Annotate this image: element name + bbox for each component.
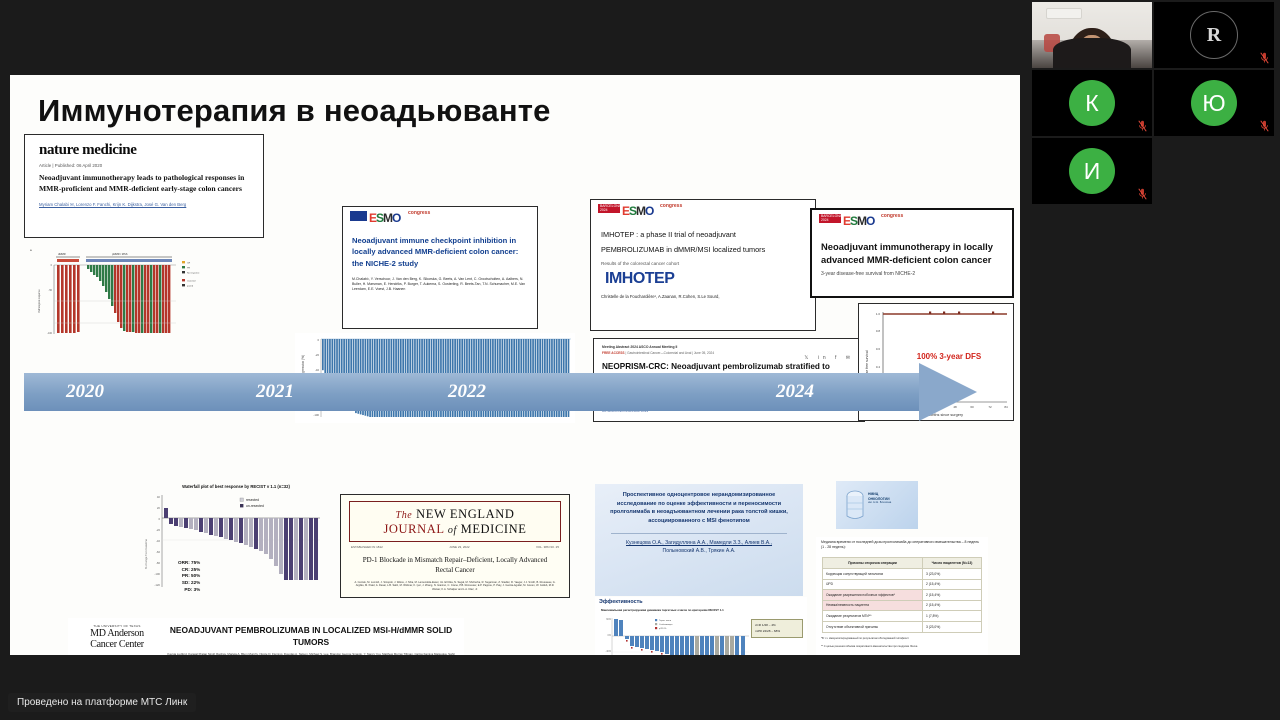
mdacc-waterfall-svg: % change from baseline 40200 -20-40-60 -… bbox=[140, 491, 332, 603]
svg-text:dMMR: dMMR bbox=[58, 252, 66, 256]
count-cell: 2 (15,4%) bbox=[923, 590, 982, 601]
presentation-slide[interactable]: Иммунотерапия в неоадьюванте nature medi… bbox=[10, 75, 1020, 655]
participant-yu-tile[interactable]: Ю bbox=[1154, 70, 1274, 136]
imhotep-card: BARCELONA 2024ESMO congress IMHOTEP : a … bbox=[590, 199, 816, 331]
niche2-3year-title: Neoadjuvant immunotherapy in locally adv… bbox=[821, 241, 1003, 266]
svg-text:0: 0 bbox=[51, 264, 53, 267]
count-cell: 2 (15,4%) bbox=[923, 600, 982, 611]
svg-text:-100: -100 bbox=[47, 332, 52, 335]
mdacc-logo: THE UNIVERSITY OF TEXAS MD Anderson Canc… bbox=[72, 624, 162, 655]
svg-text:-60: -60 bbox=[156, 550, 160, 554]
reason-cell: Ожидание разрешения побочных эффектов* bbox=[823, 590, 923, 601]
page-title: Иммунотерапия в неоадьюванте bbox=[38, 93, 551, 129]
avatar: И bbox=[1069, 148, 1115, 194]
table-row: Ожидание разрешения побочных эффектов*2 … bbox=[823, 590, 982, 601]
esmo-wordmark: ESMO bbox=[843, 214, 874, 228]
reason-cell: Ожидание результатов МГИ** bbox=[823, 611, 923, 622]
avatar: К bbox=[1069, 80, 1115, 126]
count-cell: 3 (23,0%) bbox=[923, 622, 982, 633]
pr-value: 50% bbox=[191, 573, 200, 578]
nejm-card: The NEW ENGLAND JOURNAL of MEDICINE ESTA… bbox=[340, 494, 570, 598]
article-meta: Article | Published: 06 April 2020 bbox=[39, 163, 263, 168]
nm-waterfall-svg: a dMMR pMMR / MSS bbox=[24, 243, 282, 339]
self-camera-tile[interactable] bbox=[1032, 2, 1152, 68]
nejm-masthead: The NEW ENGLAND JOURNAL of MEDICINE bbox=[349, 501, 561, 542]
mdacc-cancer-center: Cancer Center bbox=[72, 639, 162, 650]
mic-off-icon bbox=[1138, 120, 1147, 132]
organization-logo: R bbox=[1190, 11, 1238, 59]
nature-medicine-logo: nature medicine bbox=[39, 142, 263, 159]
reason-cell: Неявка/неявность пациента bbox=[823, 600, 923, 611]
timeline-year-2022: 2022 bbox=[448, 381, 486, 403]
svg-text:84: 84 bbox=[1004, 405, 1008, 409]
mdacc-response-stats: ORR: 75% CR: 25% PR: 50% SD: 22% PD: 3% bbox=[178, 560, 200, 593]
reason-cell: iJPD bbox=[823, 579, 923, 590]
svg-text:a: a bbox=[30, 248, 32, 252]
participant-i-tile[interactable]: И bbox=[1032, 138, 1152, 204]
svg-text:1.0: 1.0 bbox=[876, 312, 881, 316]
efficacy-header: Эффективность bbox=[599, 599, 807, 605]
mdacc-cancer-word: Cancer bbox=[90, 639, 117, 650]
imhotep-subtitle: Results of the colorectal cancer cohort bbox=[601, 261, 805, 266]
ru-study-card: Проспективное одноцентровое нерандомизир… bbox=[595, 484, 803, 596]
article-authors: Myriam Chalabi ✉, Lorenzo F. Fanchi, Kri… bbox=[39, 202, 249, 208]
delay-reasons-table-card: Медиана времени от последней дозы пролго… bbox=[816, 537, 988, 655]
table-row: Коррекция сопутствующей патологии3 (23,0… bbox=[823, 568, 982, 579]
platform-watermark: Проведено на платформе МТС Линк bbox=[8, 693, 196, 712]
meeting-screen: Иммунотерапия в неоадьюванте nature medi… bbox=[0, 0, 1280, 720]
svg-text:pCR 0%: pCR 0% bbox=[659, 628, 667, 630]
svg-text:-40: -40 bbox=[156, 539, 160, 543]
svg-text:paired: paired bbox=[187, 285, 194, 288]
mdacc-name: MD Anderson bbox=[72, 628, 162, 639]
avatar: Ю bbox=[1191, 80, 1237, 126]
svg-text:Pathological response: Pathological response bbox=[38, 289, 41, 313]
svg-text:Стабилизация: Стабилизация bbox=[659, 624, 672, 626]
nejm-title: PD-1 Blockade in Mismatch Repair–Deficie… bbox=[355, 556, 555, 576]
nm-waterfall-chart: a dMMR pMMR / MSS bbox=[24, 243, 282, 339]
efficacy-waterfall-svg: 60%0%-40%-80% bbox=[599, 614, 755, 655]
svg-text:-20: -20 bbox=[156, 528, 160, 532]
share-icons[interactable]: 𝕏 in f ✉ bbox=[804, 355, 854, 361]
count-cell: 2 (15,4%) bbox=[923, 579, 982, 590]
table-row: Ожидание результатов МГИ**1 (7,8%) bbox=[823, 611, 982, 622]
mpr-value: mPR 22/28 – 68% bbox=[755, 629, 799, 635]
nejm-issue-meta: ESTABLISHED IN 1812 JUNE 23, 2022 VOL. 3… bbox=[351, 545, 559, 549]
nature-medicine-card: nature medicine Article | Published: 06 … bbox=[24, 134, 264, 238]
svg-text:-40%: -40% bbox=[605, 650, 611, 653]
table-row: Отсутствие объективной причины3 (23,0%) bbox=[823, 622, 982, 633]
imhotep-esmo-logo: BARCELONA 2024ESMO congress bbox=[598, 204, 815, 217]
mic-off-icon bbox=[1260, 120, 1269, 132]
timeline-year-2020: 2020 bbox=[66, 381, 104, 403]
efficacy-panel: Эффективность Максимальная регистрируема… bbox=[595, 597, 807, 655]
delay-reasons-table: Причины отсрочка операции Число пациенто… bbox=[822, 557, 982, 633]
ru-study-authors-1: Кузнецова О.А., Загидуллина А.А., Мамедл… bbox=[603, 540, 795, 548]
svg-text:-50: -50 bbox=[49, 289, 53, 292]
participant-k-tile[interactable]: К bbox=[1032, 70, 1152, 136]
svg-text:-120: -120 bbox=[154, 583, 160, 587]
reason-cell: Коррекция сопутствующей патологии bbox=[823, 568, 923, 579]
delay-table-footnote-1: *В т.ч. иммуноопосредованный по результа… bbox=[821, 637, 983, 641]
nejm-date: JUNE 23, 2022 bbox=[449, 545, 469, 549]
esmo-logo: ESMO congress bbox=[350, 211, 537, 224]
svg-text:-20: -20 bbox=[315, 353, 319, 357]
esmo-niche2-card: ESMO congress Neoadjuvant immune checkpo… bbox=[342, 206, 538, 329]
barcelona-badge: BARCELONA 2024 bbox=[598, 204, 620, 213]
imhotep-title-line1: IMHOTEP : a phase II trial of neoadjuvan… bbox=[601, 229, 805, 242]
pr-label: PR: bbox=[182, 573, 190, 578]
nejm-volume: VOL. 386 NO. 25 bbox=[536, 545, 559, 549]
mdacc-center-word: Center bbox=[119, 639, 144, 650]
niioi-text: НМИЦ ОНКОЛОГИИ им. Н.Н. Блохина bbox=[868, 492, 891, 505]
svg-text:PR: PR bbox=[187, 268, 190, 270]
cr-label: CR: bbox=[182, 567, 190, 572]
nejm-established: ESTABLISHED IN 1812 bbox=[351, 545, 383, 549]
svg-text:-100: -100 bbox=[154, 572, 160, 576]
blokhin-icon bbox=[842, 488, 868, 522]
orr-value: 75% bbox=[191, 560, 200, 565]
niche2-esmo-logo: BARCELONA 2024ESMO congress bbox=[819, 214, 1012, 227]
esmo-congress-label: congress bbox=[408, 210, 430, 216]
legend-unresected: un-resected bbox=[246, 504, 264, 508]
dfs-annotation: 100% 3-year DFS bbox=[917, 352, 982, 361]
svg-text:CR: CR bbox=[187, 263, 191, 265]
mic-off-icon bbox=[1138, 188, 1147, 200]
mdacc-authors: Kaysia Ludford, Kanwal Pratap Singh Ragh… bbox=[166, 652, 456, 655]
esmo-niche2-title: Neoadjuvant immune checkpoint inhibition… bbox=[352, 235, 528, 269]
barcelona-badge: BARCELONA 2024 bbox=[819, 214, 841, 223]
timeline-year-2021: 2021 bbox=[256, 381, 294, 403]
mdacc-card: THE UNIVERSITY OF TEXAS MD Anderson Canc… bbox=[68, 618, 464, 655]
sd-label: SD: bbox=[182, 580, 190, 585]
svg-text:pMMR / MSS: pMMR / MSS bbox=[112, 252, 128, 256]
svg-text:0.6: 0.6 bbox=[876, 347, 881, 351]
timeline-arrowhead bbox=[919, 363, 977, 421]
nejm-authors: A. Cercek, M. Lumish, J. Sinopoli, J. We… bbox=[353, 581, 557, 593]
col-reason: Причины отсрочка операции bbox=[823, 557, 923, 568]
timeline-arrow: 2020 2021 2022 2024 bbox=[24, 369, 976, 415]
neoprism-access-meta: | Gastrointestinal Cancer—Colorectal and… bbox=[625, 351, 714, 355]
svg-text:0: 0 bbox=[317, 338, 319, 342]
col-count: Число пациентов (N=13) bbox=[923, 557, 982, 568]
pd-value: 3% bbox=[194, 587, 201, 592]
mic-off-icon bbox=[1260, 52, 1269, 64]
mdacc-waterfall-chart: Waterfall plot of best response by RECIS… bbox=[140, 484, 332, 606]
svg-text:40: 40 bbox=[157, 495, 161, 499]
esmo-wordmark: ESMO bbox=[369, 211, 400, 225]
svg-text:20: 20 bbox=[157, 506, 161, 510]
svg-text:72: 72 bbox=[988, 405, 992, 409]
timeline-year-2024: 2024 bbox=[776, 381, 814, 403]
table-header-row: Причины отсрочка операции Число пациенто… bbox=[823, 557, 982, 568]
ru-study-title: Проспективное одноцентровое нерандомизир… bbox=[604, 491, 794, 526]
imhotep-authors: Christelle de la Fouchardière¹, A.Zaanan… bbox=[601, 294, 805, 299]
esmo-niche2-authors: M.Chalabi¹, Y. Verschoor, J. Van den Ber… bbox=[352, 277, 528, 292]
svg-text:0%: 0% bbox=[608, 634, 612, 637]
imhotep-logo: IMHOTEP bbox=[605, 270, 815, 288]
svg-text:0: 0 bbox=[158, 517, 160, 521]
niche2-3year-card: BARCELONA 2024ESMO congress Neoadjuvant … bbox=[810, 208, 1014, 298]
niioi-logo-card: НМИЦ ОНКОЛОГИИ им. Н.Н. Блохина bbox=[836, 481, 918, 529]
esmo-congress-label: congress bbox=[881, 213, 903, 219]
efficacy-response-badge: cCR 1/28 – 4% mPR 22/28 – 68% bbox=[751, 619, 803, 638]
svg-text:resected: resected bbox=[187, 280, 196, 283]
pd-label: PD: bbox=[184, 587, 192, 592]
count-cell: 1 (7,8%) bbox=[923, 611, 982, 622]
mdacc-waterfall-title: Waterfall plot of best response by RECIS… bbox=[140, 484, 332, 489]
legend-resected: resected bbox=[246, 498, 259, 502]
niioi-line3: им. Н.Н. Блохина bbox=[868, 501, 891, 505]
esmo-wordmark: ESMO bbox=[622, 204, 653, 218]
esmo-mark bbox=[350, 211, 367, 221]
nejm-masthead-line1: The NEW ENGLAND bbox=[350, 507, 560, 522]
participant-video-rail: R К Ю bbox=[1032, 2, 1278, 214]
table-row: iJPD2 (15,4%) bbox=[823, 579, 982, 590]
divider bbox=[611, 533, 787, 534]
niche2-3year-subtitle: 3-year disease-free survival from NICHE-… bbox=[821, 271, 1003, 277]
free-access-badge: FREE ACCESS bbox=[602, 351, 625, 355]
delay-table-footnote-2: ** С целью решения объёма оперативного в… bbox=[821, 645, 983, 649]
svg-text:0.8: 0.8 bbox=[876, 329, 881, 333]
delay-table-caption: Медиана времени от последней дозы пролго… bbox=[821, 540, 983, 551]
mdacc-title: NEOADJUVANT PEMBROLIZUMAB IN LOCALIZED M… bbox=[166, 624, 456, 648]
logo-participant-tile[interactable]: R bbox=[1154, 2, 1274, 68]
cr-value: 25% bbox=[191, 567, 200, 572]
sd-value: 22% bbox=[191, 580, 200, 585]
svg-text:60%: 60% bbox=[606, 618, 612, 621]
count-cell: 3 (23,0%) bbox=[923, 568, 982, 579]
svg-text:Таргет. очаги: Таргет. очаги bbox=[659, 620, 671, 622]
svg-text:% change from baseline: % change from baseline bbox=[144, 539, 148, 569]
reason-cell: Отсутствие объективной причины bbox=[823, 622, 923, 633]
esmo-congress-label: congress bbox=[660, 203, 682, 209]
person-body bbox=[1053, 38, 1131, 68]
air-conditioner bbox=[1046, 8, 1082, 19]
imhotep-title-line2: PEMBROLIZUMAB in dMMR/MSI localized tumo… bbox=[601, 244, 805, 257]
neoprism-header: Meeting Abstract 2024 ASCO Annual Meetin… bbox=[602, 345, 864, 349]
nejm-masthead-line2: JOURNAL of MEDICINE bbox=[350, 522, 560, 537]
article-title: Neoadjuvant immunotherapy leads to patho… bbox=[39, 173, 249, 195]
orr-label: ORR: bbox=[178, 560, 190, 565]
efficacy-subtitle: Максимальная регистрируемая динамика тар… bbox=[601, 608, 807, 612]
ru-study-authors-2: Полыновский А.В., Трякин А.А. bbox=[603, 548, 795, 556]
table-row: Неявка/неявность пациента2 (15,4%) bbox=[823, 600, 982, 611]
svg-text:No response: No response bbox=[187, 272, 200, 275]
svg-text:-80: -80 bbox=[156, 561, 160, 565]
